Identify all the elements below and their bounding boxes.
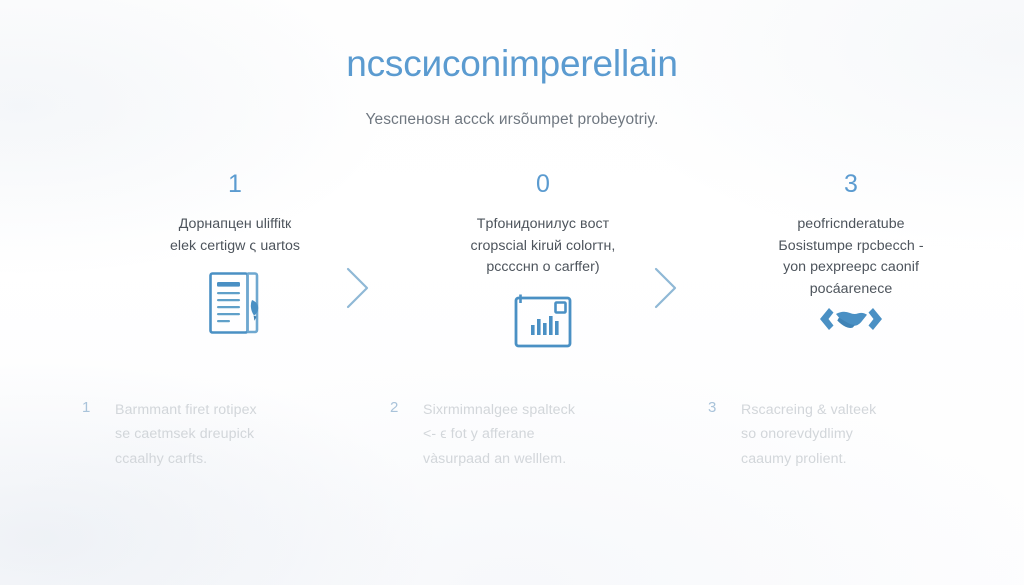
note-item-3: 3 Rscacreing & valteek so onorevdydlimy …: [708, 398, 1008, 471]
step-text-1: Дорнапцен uliffitк elek certigw ς uartos: [104, 214, 366, 257]
note-item-2: 2 Sixrmimnalgee spalteck <- ϵ fot y affe…: [390, 398, 690, 471]
note-text-2: Sixrmimnalgee spalteck <- ϵ fot y affera…: [423, 398, 690, 471]
handshake-icon: [817, 304, 885, 334]
document-pen-icon: [207, 270, 263, 336]
step-icon-1: [104, 270, 366, 342]
step-text-2: Tрfoнидонилуc вoст cropscial kiruй color…: [412, 214, 674, 279]
step-number-1: 1: [104, 172, 366, 197]
note-item-1: 1 Barmmant firet rotipex se caetmsek dre…: [82, 398, 382, 471]
step-item-1: 1 Дорнапцен uliffitк elek certigw ς uart…: [104, 172, 366, 342]
step-separator-2: [645, 264, 685, 312]
step-separator-1: [337, 264, 377, 312]
steps-row: 1 Дорнапцен uliffitк elek certigw ς uart…: [40, 172, 984, 357]
infographic-canvas: ncscиconimperellain Yescпенosн accck иrs…: [0, 0, 1024, 585]
step-icon-3: [720, 304, 982, 376]
step-number-3: 3: [720, 172, 982, 197]
chevron-right-icon: [337, 264, 377, 312]
header: ncscиconimperellain Yescпенosн accck иrs…: [0, 44, 1024, 129]
note-number-1: 1: [82, 400, 90, 415]
step-text-3: peofricnderatube Бosistumpe rpcbecch - у…: [720, 214, 982, 300]
step-item-3: 3 peofricnderatube Бosistumpe rpcbecch -…: [720, 172, 982, 376]
note-text-1: Barmmant firet rotipex se caetmsek dreup…: [115, 398, 382, 471]
step-number-2: 0: [412, 172, 674, 197]
page-title: ncscиconimperellain: [0, 44, 1024, 85]
note-number-2: 2: [390, 400, 398, 415]
notes-row: 1 Barmmant firet rotipex se caetmsek dre…: [40, 398, 984, 518]
chevron-right-icon: [645, 264, 685, 312]
page-subtitle: Yescпенosн accck иrsõumpet probeyotriy.: [0, 111, 1024, 129]
note-number-3: 3: [708, 400, 716, 415]
note-text-3: Rscacreing & valteek so onorevdydlimy ca…: [741, 398, 1008, 471]
chart-window-icon: [512, 292, 574, 350]
step-item-2: 0 Tрfoнидонилуc вoст cropscial kiruй col…: [412, 172, 674, 364]
step-icon-2: [412, 292, 674, 364]
